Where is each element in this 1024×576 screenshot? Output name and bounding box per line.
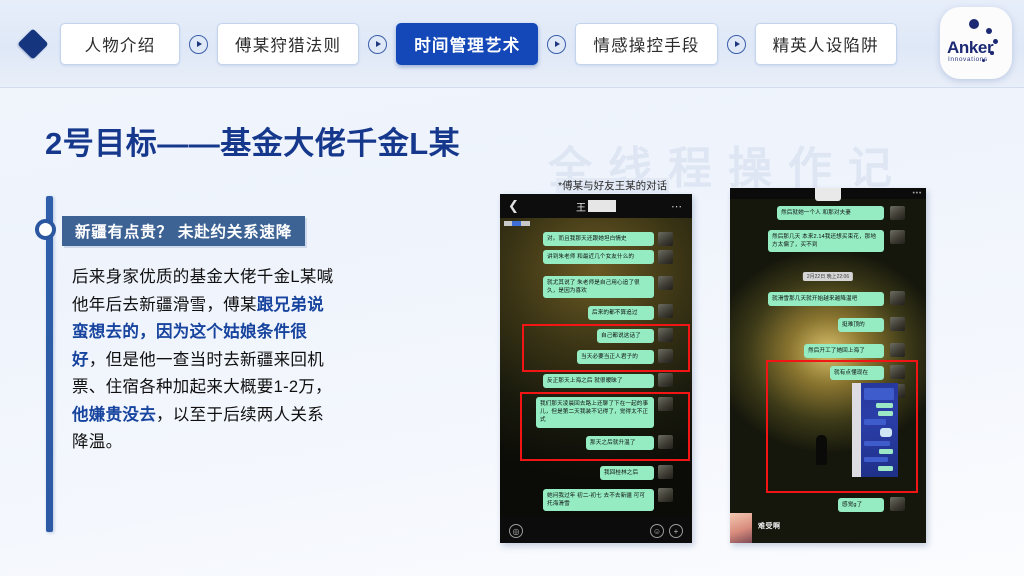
avatar — [658, 397, 673, 411]
diamond-icon — [17, 28, 48, 59]
bottom-thumbnail — [730, 513, 752, 543]
logo-dot — [969, 19, 979, 29]
bottom-caption: 难受啊 — [758, 521, 781, 531]
chat-bubble: 自己都说这话了 — [597, 329, 654, 343]
play-circle-icon — [368, 35, 387, 54]
nested-scrollbar — [852, 383, 861, 477]
top-navigation-bar: 人物介绍 傅某狩猎法则 时间管理艺术 情感操控手段 精英人设陷阱 Anker I… — [0, 0, 1024, 88]
avatar — [890, 343, 905, 357]
play-circle-icon — [189, 35, 208, 54]
nested-block — [878, 466, 893, 471]
nested-block — [876, 403, 893, 408]
nested-block — [864, 388, 894, 400]
nested-block — [879, 449, 893, 454]
chat-input-bar[interactable]: ◎ ☺ + — [500, 517, 692, 543]
chat-bubble: 我们那天凌晨回去路上还聊了下在一起的事儿，但是第二天我装不记得了，觉得太不正式 — [536, 397, 654, 428]
avatar — [658, 328, 673, 342]
chat-bubble: 然后开工了她回上海了 — [804, 344, 884, 358]
chat-bubble: 我回桂林之后 — [600, 466, 654, 480]
chat-bubble: 她问我过年 初二-初七 去不去新疆 可可托海滑雪 — [543, 489, 654, 511]
avatar — [890, 317, 905, 331]
avatar — [890, 365, 905, 379]
tab-renwujieshao[interactable]: 人物介绍 — [60, 23, 180, 65]
avatar — [658, 304, 673, 318]
evidence-caption: *傅某与好友王某的对话 — [556, 178, 669, 193]
more-dots-icon[interactable]: ⋯ — [671, 200, 683, 213]
paragraph-highlight: 他嫌贵没去 — [72, 406, 156, 424]
voice-icon[interactable]: ◎ — [509, 524, 523, 538]
tab-qingganchaokong[interactable]: 情感操控手段 — [575, 23, 717, 65]
play-circle-icon — [727, 35, 746, 54]
avatar — [658, 465, 673, 479]
chat-header: ❮ 王 ⋯ — [500, 194, 692, 218]
tab-jingyingrenshe[interactable]: 精英人设陷阱 — [755, 23, 897, 65]
avatar — [658, 276, 673, 290]
tab-shijianguanli[interactable]: 时间管理艺术 — [396, 23, 538, 65]
chat-bubble: 挺难顶的 — [838, 318, 884, 332]
nested-block — [880, 428, 892, 437]
anker-logo: Anker Innovations — [940, 7, 1012, 79]
chat-bubble: 对。而且我那天还跟她坦白情史 — [543, 232, 654, 246]
chat-contact-name: 王 — [576, 199, 616, 214]
section-banner: 新疆有点贵？ 未赴约关系速降 — [62, 216, 305, 246]
slide-canvas: 全线程操作记 人物介绍 傅某狩猎法则 时间管理艺术 情感操控手段 精英人设陷阱 — [0, 0, 1024, 576]
nested-block — [864, 457, 888, 462]
plus-icon[interactable]: + — [669, 524, 683, 538]
redaction-block — [588, 200, 616, 212]
logo-wordmark: Anker — [947, 38, 993, 58]
avatar — [658, 349, 673, 363]
tab-fumoushoulie[interactable]: 傅某狩猎法则 — [217, 23, 359, 65]
timeline-node-dot — [35, 219, 56, 240]
avatar — [658, 232, 673, 246]
chat-bubble: 然后那几天 本来2.14我还想买束花，那地方太偏了，买不到 — [768, 230, 884, 252]
page-title: 2号目标——基金大佬千金L某 — [45, 118, 460, 163]
avatar — [658, 435, 673, 449]
chat-screenshot-left[interactable]: ❮ 王 ⋯ 对。而且我那天还跟她坦白情史 讲到朱老师 和最近几个女友什么的 就尤… — [500, 194, 692, 543]
avatar — [890, 291, 905, 305]
chevron-left-icon[interactable]: ❮ — [508, 198, 519, 214]
avatar — [658, 373, 673, 387]
avatar — [658, 488, 673, 502]
chat-bubble: 就有点懂现在 — [830, 366, 884, 380]
avatar — [890, 230, 905, 244]
chat-bubble: 感觉g了 — [838, 498, 884, 512]
chat-bubble: 就滑雪那几天就开始越来越降温吧 — [768, 292, 884, 306]
chat-bubble: 那天之后就升温了 — [586, 436, 654, 450]
chat-timestamp: 2月22日 晚上22:06 — [803, 272, 853, 281]
phone-status-bar: ●●● — [730, 188, 926, 199]
timeline-vertical-bar — [46, 196, 53, 532]
avatar — [658, 250, 673, 264]
body-paragraph: 后来身家优质的基金大佬千金L某喊他年后去新疆滑雪，傅某跟兄弟说蛮想去的，因为这个… — [72, 264, 340, 457]
play-circle-icon — [547, 35, 566, 54]
nested-block — [864, 419, 886, 425]
chat-tag-strip-accent — [512, 221, 521, 226]
avatar — [890, 206, 905, 220]
logo-tagline: Innovations — [948, 56, 988, 63]
nested-block — [864, 441, 890, 446]
logo-dot — [993, 39, 998, 44]
chat-bubble: 当天必要当正人君子的 — [577, 350, 654, 364]
chat-bubble: 就尤其说了 朱老师是自己用心追了很久，是因为喜欢 — [543, 276, 654, 298]
nav-tab-list: 人物介绍 傅某狩猎法则 时间管理艺术 情感操控手段 精英人设陷阱 — [60, 23, 897, 65]
nested-block — [878, 411, 893, 416]
status-notch — [815, 188, 841, 201]
avatar — [890, 497, 905, 511]
status-indicators: ●●● — [912, 190, 922, 195]
chat-bubble: 然后就她一个人 和那对夫妻 — [777, 206, 884, 220]
chat-bubble: 反正那天上海之后 就很暧昧了 — [543, 374, 654, 388]
logo-dot — [986, 28, 992, 34]
chat-screenshot-right[interactable]: ●●● 然后就她一个人 和那对夫妻 然后那几天 本来2.14我还想买束花，那地方… — [730, 188, 926, 543]
chat-bubble: 后来的都不算追过 — [588, 306, 654, 320]
chat-bubble: 讲到朱老师 和最近几个女友什么的 — [543, 250, 654, 264]
paragraph-segment: ，但是他一查当时去新疆来回机票、住宿各种加起来大概要1-2万， — [72, 351, 332, 397]
nested-screenshot — [852, 383, 898, 477]
emoji-icon[interactable]: ☺ — [650, 524, 664, 538]
